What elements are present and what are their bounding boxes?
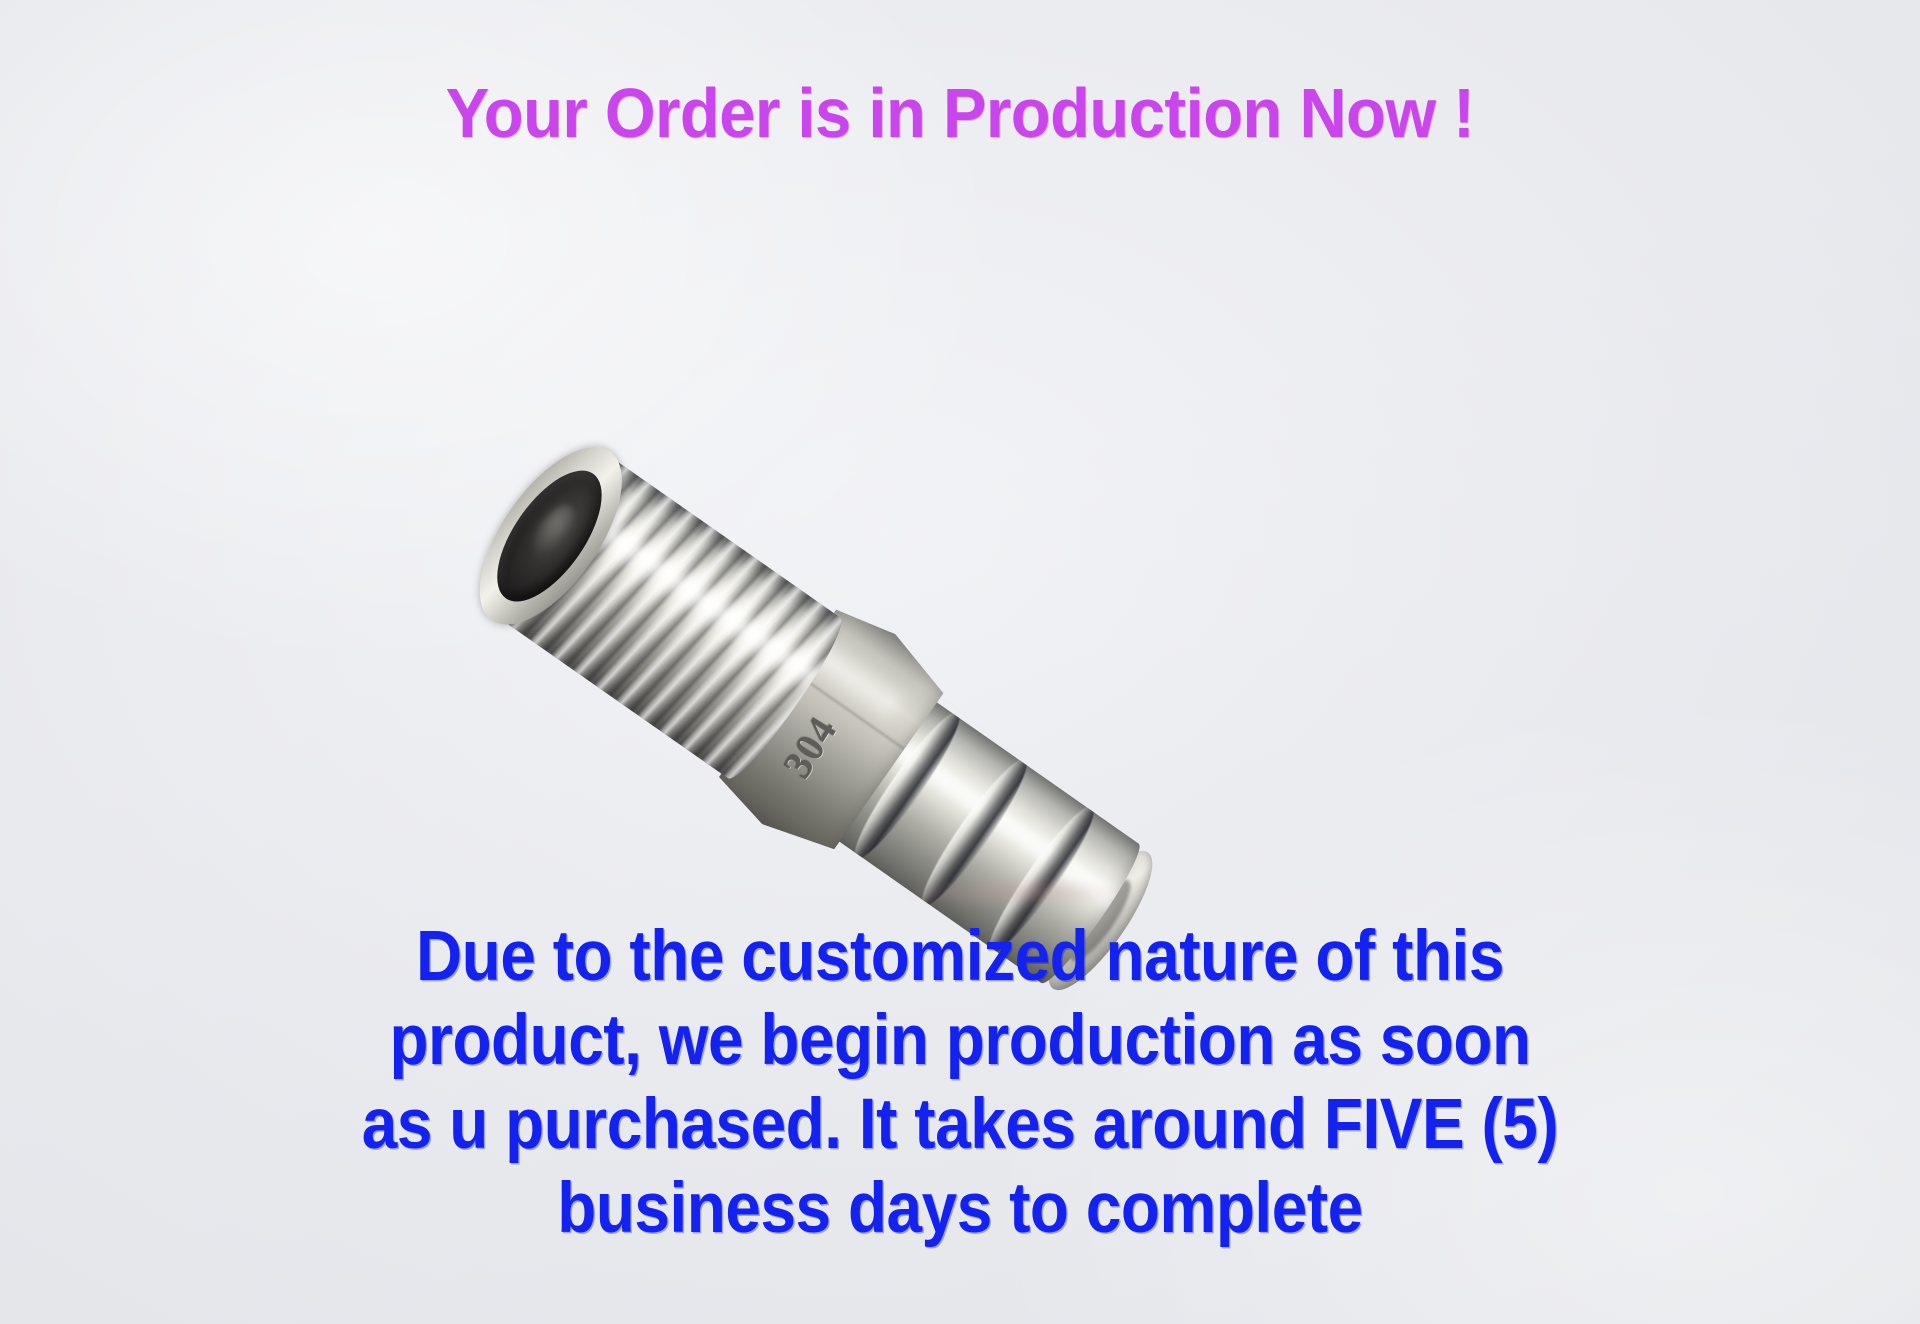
notice-image: Your Order is in Production Now ! 304 bbox=[0, 0, 1920, 1324]
notice-line-4: business days to complete bbox=[96, 1167, 1824, 1251]
notice-line-1: Due to the customized nature of this bbox=[96, 915, 1824, 999]
product-photo: 304 bbox=[470, 300, 1230, 860]
background-scuff bbox=[900, 880, 1140, 906]
bore-inner-highlight bbox=[523, 498, 582, 564]
production-notice: Due to the customized nature of this pro… bbox=[96, 915, 1824, 1251]
notice-line-3: as u purchased. It takes around FIVE (5) bbox=[96, 1083, 1824, 1167]
page-title: Your Order is in Production Now ! bbox=[67, 78, 1853, 148]
notice-line-2: product, we begin production as soon bbox=[96, 999, 1824, 1083]
